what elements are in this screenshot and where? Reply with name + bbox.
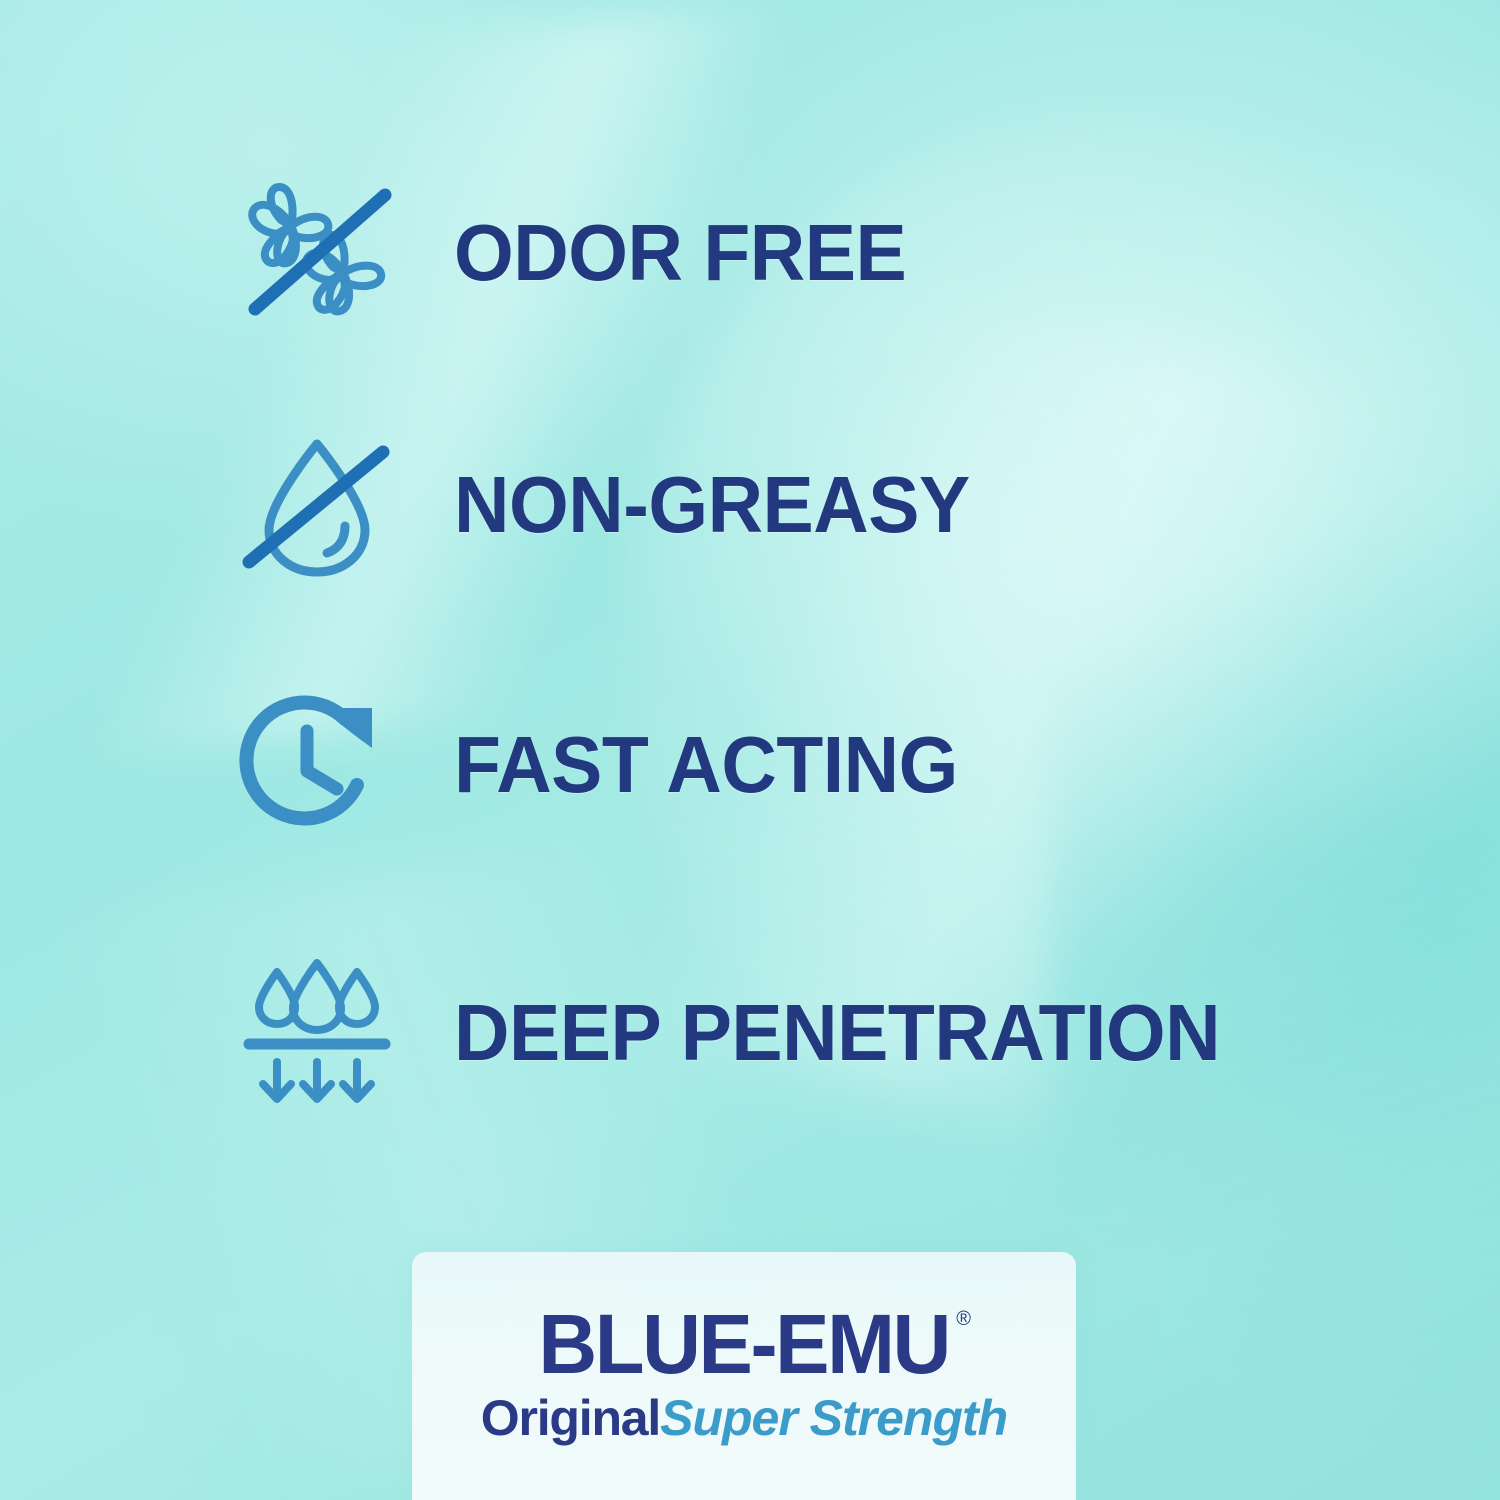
feature-item-odor-free: ODOR FREE [232, 178, 925, 328]
registered-trademark-icon: ® [956, 1310, 971, 1328]
background-swirl-shadow [1050, 450, 1500, 1230]
flowers-no-odor-icon [232, 178, 402, 328]
clock-arrow-icon [232, 690, 402, 840]
brand-logo-panel: BLUE-EMU® OriginalSuper Strength [412, 1252, 1076, 1500]
feature-label-non-greasy: NON-GREASY [454, 465, 970, 545]
droplets-arrows-down-icon [232, 960, 402, 1106]
brand-wordmark: BLUE-EMU® [539, 1306, 950, 1383]
feature-item-deep-penetration: DEEP PENETRATION [232, 960, 1252, 1106]
feature-label-odor-free: ODOR FREE [454, 213, 906, 293]
tagline-super-strength: Super Strength [660, 1390, 1007, 1446]
droplet-slashed-icon [232, 430, 402, 580]
feature-item-fast-acting: FAST ACTING [232, 690, 979, 840]
feature-item-non-greasy: NON-GREASY [232, 430, 991, 580]
feature-label-fast-acting: FAST ACTING [454, 725, 958, 805]
product-feature-image: ODOR FREE NON-GREASY [0, 0, 1500, 1500]
brand-tagline: OriginalSuper Strength [481, 1393, 1007, 1443]
feature-label-deep-penetration: DEEP PENETRATION [454, 993, 1220, 1073]
brand-name: BLUE-EMU [539, 1297, 950, 1391]
tagline-original: Original [481, 1390, 660, 1446]
